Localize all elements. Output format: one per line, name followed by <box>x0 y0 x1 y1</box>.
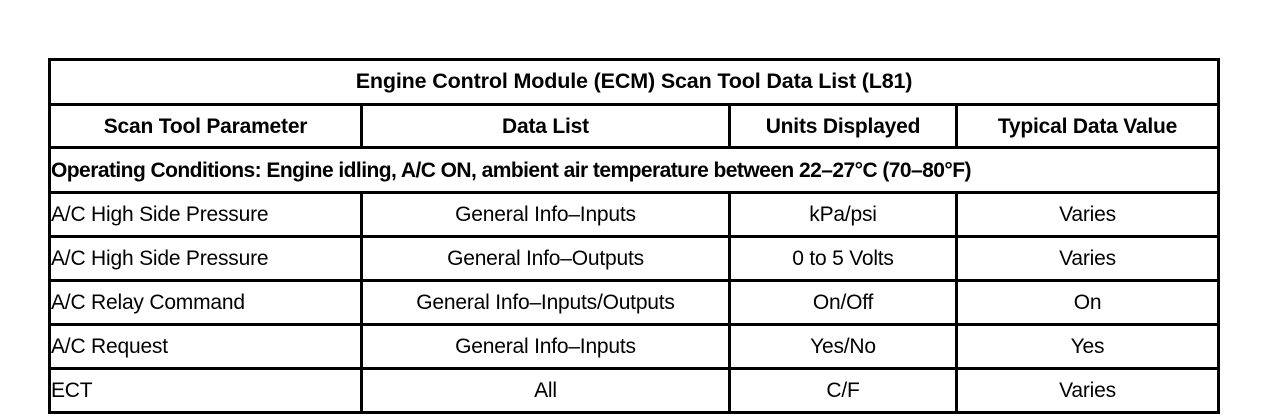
cell-data-list: All <box>362 369 730 413</box>
table-title: Engine Control Module (ECM) Scan Tool Da… <box>50 60 1219 105</box>
cell-data-list: General Info–Inputs <box>362 193 730 237</box>
cell-units: kPa/psi <box>730 193 957 237</box>
cell-parameter: A/C High Side Pressure <box>50 193 362 237</box>
cell-units: 0 to 5 Volts <box>730 237 957 281</box>
cell-parameter: A/C Relay Command <box>50 281 362 325</box>
cell-units: C/F <box>730 369 957 413</box>
table-row: A/C Relay Command General Info–Inputs/Ou… <box>50 281 1219 325</box>
table-row: ECT All C/F Varies <box>50 369 1219 413</box>
table-row: A/C High Side Pressure General Info–Outp… <box>50 237 1219 281</box>
column-header-units-displayed: Units Displayed <box>730 105 957 148</box>
cell-parameter: A/C Request <box>50 325 362 369</box>
column-header-scan-tool-parameter: Scan Tool Parameter <box>50 105 362 148</box>
cell-typical-value: Yes <box>957 325 1219 369</box>
page-root: Engine Control Module (ECM) Scan Tool Da… <box>0 0 1264 420</box>
column-header-typical-data-value: Typical Data Value <box>957 105 1219 148</box>
scan-tool-data-table: Engine Control Module (ECM) Scan Tool Da… <box>48 58 1220 414</box>
cell-parameter: A/C High Side Pressure <box>50 237 362 281</box>
cell-data-list: General Info–Inputs <box>362 325 730 369</box>
table-title-row: Engine Control Module (ECM) Scan Tool Da… <box>50 60 1219 105</box>
column-header-data-list: Data List <box>362 105 730 148</box>
cell-units: On/Off <box>730 281 957 325</box>
operating-conditions-row: Operating Conditions: Engine idling, A/C… <box>50 148 1219 193</box>
operating-conditions-text: Operating Conditions: Engine idling, A/C… <box>50 148 1219 193</box>
cell-typical-value: Varies <box>957 369 1219 413</box>
cell-typical-value: Varies <box>957 193 1219 237</box>
cell-typical-value: Varies <box>957 237 1219 281</box>
table-row: A/C Request General Info–Inputs Yes/No Y… <box>50 325 1219 369</box>
table-header-row: Scan Tool Parameter Data List Units Disp… <box>50 105 1219 148</box>
cell-units: Yes/No <box>730 325 957 369</box>
cell-data-list: General Info–Outputs <box>362 237 730 281</box>
cell-parameter: ECT <box>50 369 362 413</box>
cell-data-list: General Info–Inputs/Outputs <box>362 281 730 325</box>
table-row: A/C High Side Pressure General Info–Inpu… <box>50 193 1219 237</box>
cell-typical-value: On <box>957 281 1219 325</box>
